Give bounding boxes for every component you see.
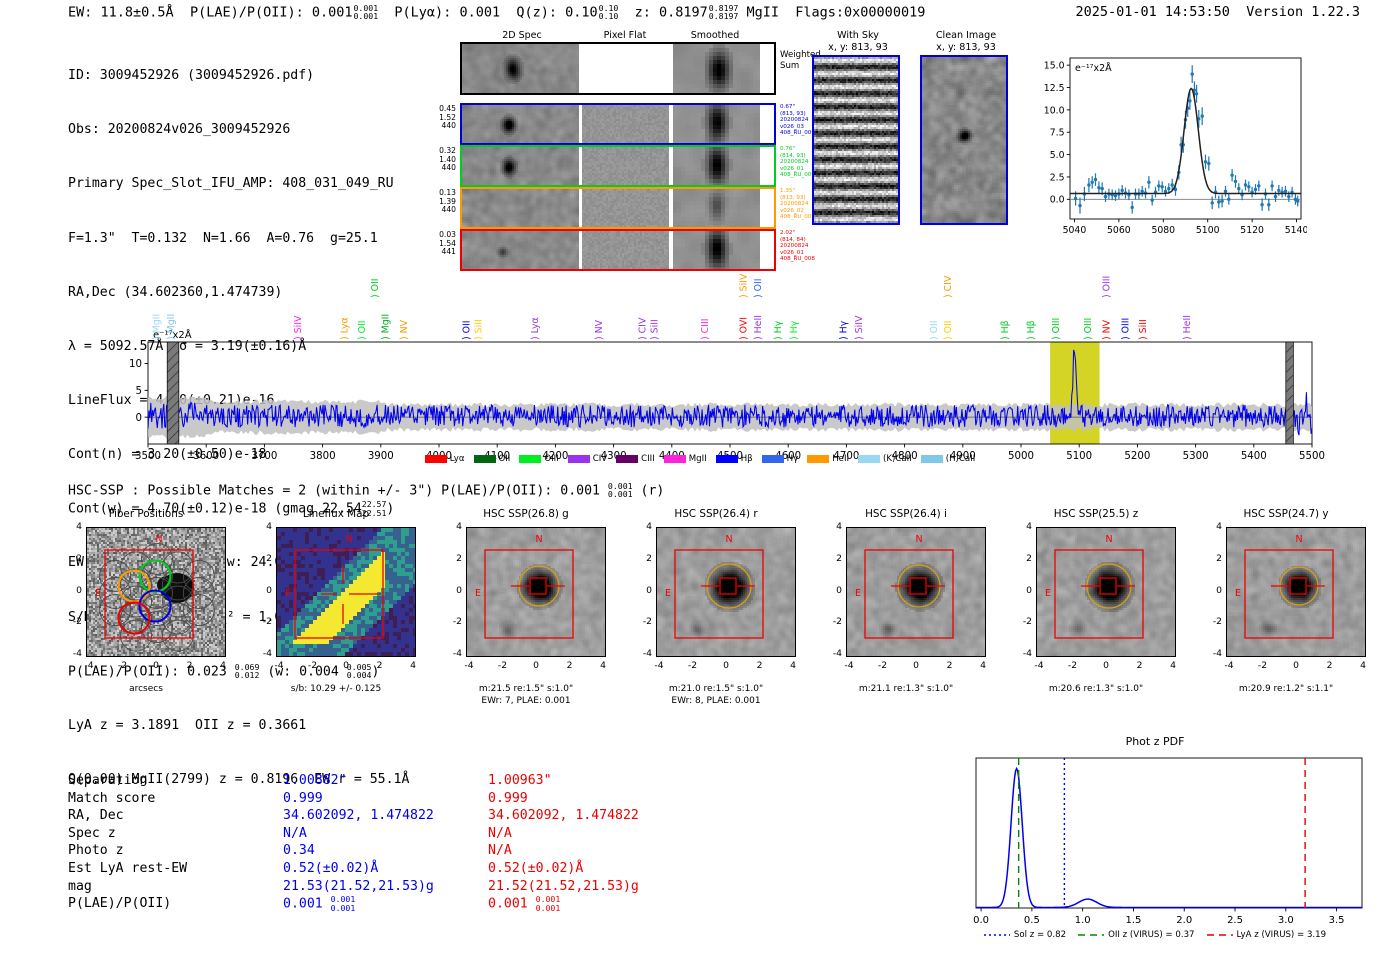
table-row: mag21.53(21.52,21.53)g21.52(21.52,21.53)… [68,878,728,896]
redshift-value: z: 0.8197 [635,4,708,20]
cutout-image[interactable]: NE [1036,527,1176,657]
photz-legend-label: Sol z = 0.82 [1014,930,1066,940]
axis-tick-x: -2 [682,660,704,671]
axis-tick-x: -2 [1252,660,1274,671]
legend-item: MgII [664,454,707,464]
cutout-caption: m:20.6 re:1.3" s:1.0" [998,683,1194,695]
spec2d-pixelflat [582,189,669,227]
cutout-image[interactable]: NE [466,527,606,657]
legend-item: Hγ [762,454,799,464]
row-value-secondary: N/A [488,825,728,843]
row-label: P(LAE)/P(OII) [68,895,283,913]
spec2d-smoothed [673,189,760,227]
timestamp: 2025-01-01 14:53:50 [1076,4,1230,20]
row-value-primary: 0.001 0.0010.001 [283,895,488,913]
cutout-caption: m:21.5 re:1.5" s:1.0"EWr: 7, PLAE: 0.001 [428,683,624,707]
axis-tick-x: -2 [302,660,324,671]
match-properties-table: Separation1.00882"1.00963"Match score0.9… [68,772,728,913]
row-value-secondary: 0.999 [488,790,728,808]
axis-tick-y: -4 [242,648,272,659]
axis-tick-x: 0 [1285,660,1307,671]
cutout-image[interactable]: NE [846,527,986,657]
redshift-bounds: 0.81970.8197 [709,4,739,21]
version-label: Version 1.22.3 [1246,4,1360,20]
axis-tick-y: -4 [432,648,462,659]
gap [760,147,774,185]
table-row: Est LyA rest-EW0.52(±0.02)Å0.52(±0.02)Å [68,860,728,878]
row-value-primary: 34.602092, 1.474822 [283,807,488,825]
table-row: Spec zN/AN/A [68,825,728,843]
legend-swatch [519,455,541,463]
table-row-plae: P(LAE)/P(OII)0.001 0.0010.0010.001 0.001… [68,895,728,913]
qz-value: Q(z): 0.10 [516,4,597,20]
line-identification: MgII [747,4,780,20]
axis-tick-x: -4 [78,660,100,671]
spec2d-pixelflat [582,147,669,185]
legend-label: OII [499,454,511,464]
axis-tick-y: -2 [1192,616,1222,627]
spec2d-row [460,187,776,229]
legend-item: HeII [807,454,849,464]
sky-panel-title: With Skyx, y: 813, 93 [812,30,904,53]
photz-legend-line [984,931,1010,939]
row-label: mag [68,878,283,896]
legend-label: (K)CaII [883,454,912,464]
axis-tick-x: 2 [179,660,201,671]
legend-swatch [616,455,638,463]
axis-tick-x: 0 [1095,660,1117,671]
table-row: Photo z0.34N/A [68,842,728,860]
photz-legend-item: OII z (VIRUS) = 0.37 [1078,930,1194,940]
axis-tick-x: 2 [939,660,961,671]
legend-label: HeII [832,454,849,464]
cutout-image[interactable]: NE [1226,527,1366,657]
spec2d-smoothed [673,105,760,143]
cutout-panel: Fiber PositionsNE-4-2024-4-2024arcsecs [48,508,244,743]
sky-panel-image [920,55,1008,225]
axis-tick-y: 2 [52,553,82,564]
row-value-secondary: N/A [488,842,728,860]
sky-panel: Clean Imagex, y: 813, 93 [920,30,1012,225]
col-title-2dspec: 2D Spec [462,30,582,41]
cutout-panel-row: Fiber PositionsNE-4-2024-4-2024arcsecsLi… [0,508,1400,743]
axis-tick-x: 0 [905,660,927,671]
legend-item: CIV [568,454,607,464]
legend-label: Hγ [787,454,799,464]
axis-tick-y: 0 [622,585,652,596]
row-label: Separation [68,772,283,790]
legend-swatch [425,455,447,463]
photz-plot-area: 0.00.51.01.52.02.53.03.5 [930,748,1380,938]
axis-tick-y: 0 [432,585,462,596]
spec2d-2dspec [462,105,579,143]
axis-tick-x: 2 [369,660,391,671]
row-label: RA, Dec [68,807,283,825]
info-id: ID: 3009452926 (3009452926.pdf) [68,67,409,85]
axis-tick-y: 0 [812,585,842,596]
cutout-caption: m:21.0 re:1.5" s:1.0"EWr: 8, PLAE: 0.001 [618,683,814,707]
row-value-primary: 0.52(±0.02)Å [283,860,488,878]
axis-tick-y: -2 [52,616,82,627]
cutout-caption: m:20.9 re:1.2" s:1.1" [1188,683,1384,695]
legend-label: Hβ [741,454,753,464]
col-title-pixelflat: Pixel Flat [575,30,675,41]
header-meta: 2025-01-01 14:53:50 Version 1.22.3 [1076,4,1361,20]
cutout-panel: HSC SSP(26.4) rNE-4-2024-4-2024m:21.0 re… [618,508,814,743]
axis-tick-x: 0 [715,660,737,671]
cutout-caption: m:21.1 re:1.3" s:1.0" [808,683,1004,695]
row-value-secondary: 0.52(±0.02)Å [488,860,728,878]
axis-tick-y: -4 [622,648,652,659]
row-value-primary: 21.53(21.52,21.53)g [283,878,488,896]
axis-tick-x: -4 [648,660,670,671]
row-value-secondary: 34.602092, 1.474822 [488,807,728,825]
ew-value: EW: 11.8±0.5Å [68,4,174,20]
legend-item: Hβ [716,454,753,464]
spec2d-2dspec [462,147,579,185]
plae-poii-bounds: 0.0010.001 [354,4,379,21]
table-row: Match score0.9990.999 [68,790,728,808]
legend-swatch [807,455,829,463]
axis-tick-x: -4 [838,660,860,671]
gap [760,44,774,93]
info-seeing: F=1.3" T=0.132 N=1.66 A=0.76 g=25.1 [68,230,409,248]
axis-tick-y: 4 [622,521,652,532]
plya-value: P(Lyα): 0.001 [394,4,500,20]
spec2d-panel-group: 2D Spec Pixel Flat Smoothed WeightedSum0… [430,30,775,260]
row-value-primary: N/A [283,825,488,843]
photz-legend-item: Sol z = 0.82 [984,930,1066,940]
axis-tick-y: 2 [812,553,842,564]
cutout-caption: arcsecs [48,683,244,695]
axis-tick-y: 4 [432,521,462,532]
axis-tick-x: -4 [1028,660,1050,671]
axis-tick-y: -2 [622,616,652,627]
row-value-primary: 0.999 [283,790,488,808]
photz-legend-line [1207,931,1233,939]
col-title-smoothed: Smoothed [665,30,765,41]
spectrum-line-legend: LyαOIIOIIICIVCIIIMgIIHβHγHeII(K)CaII(H)C… [0,450,1400,468]
row-label: Match score [68,790,283,808]
hsc-ssp-header: HSC-SSP : Possible Matches = 2 (within +… [68,482,664,499]
legend-label: Lyα [450,454,465,464]
table-row: RA, Dec34.602092, 1.47482234.602092, 1.4… [68,807,728,825]
header-summary: EW: 11.8±0.5Å P(LAE)/P(OII): 0.0010.0010… [68,4,925,21]
spec2d-row [460,103,776,145]
axis-tick-y: -4 [812,648,842,659]
axis-tick-x: 4 [592,660,614,671]
axis-tick-y: -4 [1192,648,1222,659]
axis-tick-x: 0 [525,660,547,671]
spec2d-row-left-values: 0.451.52440 [430,105,456,131]
cutout-image[interactable]: NE [656,527,796,657]
table-row: Separation1.00882"1.00963" [68,772,728,790]
axis-tick-x: 4 [1162,660,1184,671]
axis-tick-x: 4 [782,660,804,671]
sky-panel-image [812,55,900,225]
axis-tick-y: 2 [622,553,652,564]
row-value-primary: 0.34 [283,842,488,860]
legend-label: CIII [641,454,655,464]
axis-tick-y: 4 [1192,521,1222,532]
axis-tick-y: -2 [432,616,462,627]
cutout-panel: Lineflux MapNE-4-2024-4-2024s/b: 10.29 +… [238,508,434,743]
axis-tick-x: -4 [1218,660,1240,671]
weighted-sum-row [460,42,776,95]
full-spectrum-chart: e⁻¹⁷x2Å350036003700380039004000410042004… [0,262,1400,472]
gap [760,189,774,227]
axis-tick-x: 4 [972,660,994,671]
legend-swatch [716,455,738,463]
legend-item: Lyα [425,454,465,464]
axis-tick-x: 2 [559,660,581,671]
axis-tick-y: 0 [52,585,82,596]
legend-item: (H)CaII [921,454,976,464]
axis-tick-x: 4 [212,660,234,671]
axis-tick-y: 2 [1192,553,1222,564]
axis-tick-y: -2 [242,616,272,627]
sky-panel: With Skyx, y: 813, 93 [812,30,904,225]
axis-tick-x: 4 [402,660,424,671]
row-value-secondary: 0.001 0.0010.001 [488,895,728,913]
spec2d-row-left-values: 0.321.40440 [430,147,456,173]
axis-tick-x: 2 [1319,660,1341,671]
axis-tick-x: 4 [1352,660,1374,671]
cutout-image[interactable]: NE [276,527,416,657]
axis-tick-y: -4 [1002,648,1032,659]
cutout-panel: HSC SSP(25.5) zNE-4-2024-4-2024m:20.6 re… [998,508,1194,743]
axis-tick-x: -2 [112,660,134,671]
photz-legend-label: LyA z (VIRUS) = 3.19 [1237,930,1327,940]
spec2d-row-left-values: 0.031.54441 [430,231,456,257]
hsc-plae-bounds: 0.0010.001 [608,482,633,499]
legend-item: OIII [519,454,558,464]
axis-tick-y: -2 [812,616,842,627]
cutout-panel: HSC SSP(26.8) gNE-4-2024-4-2024m:21.5 re… [428,508,624,743]
qz-bounds: 0.100.10 [599,4,619,21]
axis-tick-y: -4 [52,648,82,659]
cutout-panel: HSC SSP(24.7) yNE-4-2024-4-2024m:20.9 re… [1188,508,1384,743]
axis-tick-y: 4 [242,521,272,532]
photz-pdf-chart: Phot z PDF 0.00.51.01.52.02.53.03.5 [930,735,1380,945]
photz-title: Phot z PDF [930,735,1380,748]
legend-item: CIII [616,454,655,464]
axis-tick-x: -2 [1062,660,1084,671]
legend-label: MgII [689,454,707,464]
flags-value: Flags:0x00000019 [795,4,925,20]
axis-tick-y: 4 [52,521,82,532]
photz-legend-line [1078,931,1104,939]
row-label: Spec z [68,825,283,843]
legend-item: (K)CaII [858,454,912,464]
legend-swatch [762,455,784,463]
legend-label: CIV [593,454,607,464]
row-value-primary: 1.00882" [283,772,488,790]
spec2d-pixelflat [582,105,669,143]
cutout-image[interactable]: NE [86,527,226,657]
axis-tick-y: 0 [242,585,272,596]
axis-tick-x: -4 [458,660,480,671]
axis-tick-y: 0 [1192,585,1222,596]
plae-poii-label: P(LAE)/P(OII): 0.001 [190,4,353,20]
legend-swatch [568,455,590,463]
photz-legend: Sol z = 0.82OII z (VIRUS) = 0.37LyA z (V… [930,930,1380,940]
spec2d-2dspec [462,189,579,227]
legend-swatch [858,455,880,463]
axis-tick-y: -2 [1002,616,1032,627]
legend-swatch [474,455,496,463]
photz-legend-item: LyA z (VIRUS) = 3.19 [1207,930,1327,940]
legend-label: (H)CaII [946,454,976,464]
axis-tick-y: 2 [242,553,272,564]
sky-clean-panels: With Skyx, y: 813, 93Clean Imagex, y: 81… [812,30,1012,245]
cutout-panel: HSC SSP(26.4) iNE-4-2024-4-2024m:21.1 re… [808,508,1004,743]
weighted-sum-2dspec [462,44,579,93]
photz-legend-label: OII z (VIRUS) = 0.37 [1108,930,1194,940]
axis-tick-x: -4 [268,660,290,671]
axis-tick-x: -2 [872,660,894,671]
gap [760,105,774,143]
row-label: Photo z [68,842,283,860]
axis-tick-y: 4 [1002,521,1032,532]
axis-tick-y: 0 [1002,585,1032,596]
info-obs: Obs: 20200824v026_3009452926 [68,121,409,139]
emission-line-zoom-chart: e⁻¹⁷x2Å5040506050805100512051400.02.55.0… [1022,48,1307,253]
axis-tick-y: 4 [812,521,842,532]
cutout-caption: s/b: 10.29 +/- 0.125 [238,683,434,695]
axis-tick-x: 2 [749,660,771,671]
legend-label: OIII [544,454,558,464]
row-value-secondary: 21.52(21.52,21.53)g [488,878,728,896]
weighted-sum-pixelflat [582,44,669,93]
legend-swatch [921,455,943,463]
axis-tick-y: 2 [432,553,462,564]
legend-item: OII [474,454,511,464]
spec2d-smoothed [673,147,760,185]
axis-tick-x: 0 [145,660,167,671]
info-primary-spec: Primary Spec_Slot_IFU_AMP: 408_031_049_R… [68,175,409,193]
header-bar: EW: 11.8±0.5Å P(LAE)/P(OII): 0.0010.0010… [0,4,1400,26]
row-label: Est LyA rest-EW [68,860,283,878]
spec2d-row-left-values: 0.131.39440 [430,189,456,215]
axis-tick-x: 2 [1129,660,1151,671]
axis-tick-x: -2 [492,660,514,671]
axis-tick-y: 2 [1002,553,1032,564]
row-value-secondary: 1.00963" [488,772,728,790]
axis-tick-x: 0 [335,660,357,671]
weighted-sum-smoothed [673,44,760,93]
legend-swatch [664,455,686,463]
sky-panel-title: Clean Imagex, y: 813, 93 [920,30,1012,53]
spec2d-row [460,145,776,187]
